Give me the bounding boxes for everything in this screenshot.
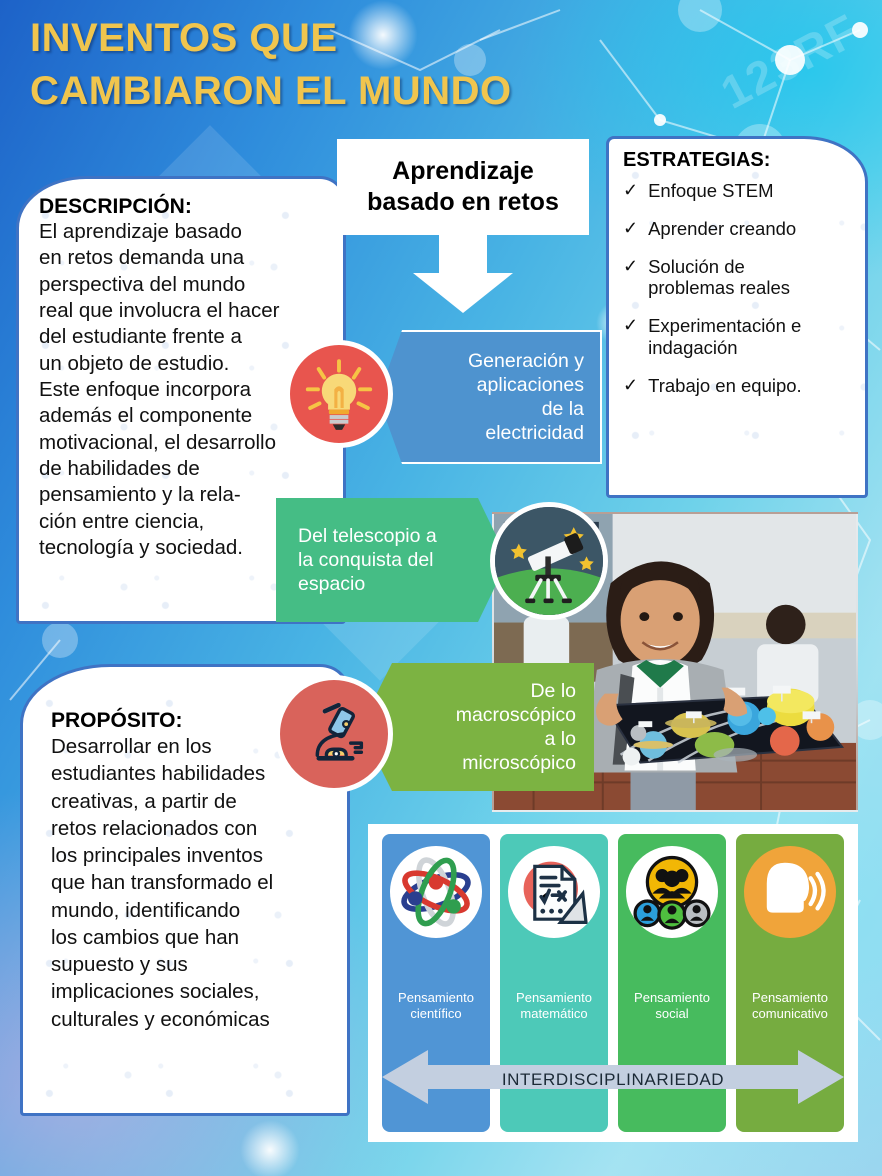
strategy-label: Trabajo en equipo.: [648, 375, 802, 397]
main-concept-box: Aprendizaje basado en retos: [337, 139, 589, 235]
column-label: Pensamiento social: [634, 990, 710, 1022]
title-line-1: INVENTOS QUE: [30, 12, 630, 65]
atom-icon: [390, 846, 482, 938]
topic-chip-telescopio: Del telescopio a la conquista del espaci…: [276, 498, 508, 622]
down-arrow-icon: [409, 233, 517, 313]
lightbulb-icon: [285, 340, 393, 448]
column-label: Pensamiento matemático: [516, 990, 592, 1022]
column-label: Pensamiento comunicativo: [752, 990, 828, 1022]
interdisciplinarity-label: INTERDISCIPLINARIEDAD: [368, 1070, 858, 1090]
topic-chip-label: Generación y aplicaciones de la electric…: [416, 349, 584, 446]
check-icon: ✓: [623, 218, 638, 239]
strategies-card: ESTRATEGIAS: ✓ Enfoque STEM ✓ Aprender c…: [606, 136, 868, 498]
list-item: ✓ Solución de problemas reales: [623, 256, 857, 300]
list-item: ✓ Experimentación e indagación: [623, 315, 857, 359]
topic-chip-electricidad: Generación y aplicaciones de la electric…: [378, 330, 602, 464]
strategy-label: Solución de problemas reales: [648, 256, 790, 300]
interdisciplinarity-panel: Pensamiento científico: [368, 824, 858, 1142]
list-item: ✓ Aprender creando: [623, 218, 857, 240]
strategy-label: Enfoque STEM: [648, 180, 773, 202]
column-label: Pensamiento científico: [398, 990, 474, 1022]
check-icon: ✓: [623, 256, 638, 277]
microscope-icon: [275, 675, 393, 793]
strategy-label: Aprender creando: [648, 218, 796, 240]
strategy-label: Experimentación e indagación: [648, 315, 801, 359]
speaking-head-icon: [744, 846, 836, 938]
list-item: ✓ Trabajo en equipo.: [623, 375, 857, 397]
list-item: ✓ Enfoque STEM: [623, 180, 857, 202]
math-document-icon: [508, 846, 600, 938]
topic-chip-label: Del telescopio a la conquista del espaci…: [298, 524, 468, 597]
glow-dot: [240, 1120, 300, 1176]
topic-chip-label: De lo macroscópico a lo microscópico: [404, 679, 576, 776]
telescope-icon: [490, 502, 608, 620]
watermark-text: 123RF: [712, 2, 868, 119]
description-heading: DESCRIPCIÓN:: [39, 195, 333, 219]
strategies-heading: ESTRATEGIAS:: [623, 149, 857, 172]
strategies-list: ✓ Enfoque STEM ✓ Aprender creando ✓ Solu…: [623, 180, 857, 397]
page-title: INVENTOS QUE CAMBIARON EL MUNDO: [30, 12, 630, 118]
check-icon: ✓: [623, 375, 638, 396]
topic-chip-microscopico: De lo macroscópico a lo microscópico: [360, 663, 594, 791]
people-group-icon: [626, 846, 718, 938]
poster-canvas: 123RF INVENTOS QUE CAMBIARON EL MUNDO DE…: [0, 0, 882, 1176]
main-concept-label: Aprendizaje basado en retos: [367, 156, 559, 218]
check-icon: ✓: [623, 315, 638, 336]
check-icon: ✓: [623, 180, 638, 201]
title-line-2: CAMBIARON EL MUNDO: [30, 65, 630, 118]
